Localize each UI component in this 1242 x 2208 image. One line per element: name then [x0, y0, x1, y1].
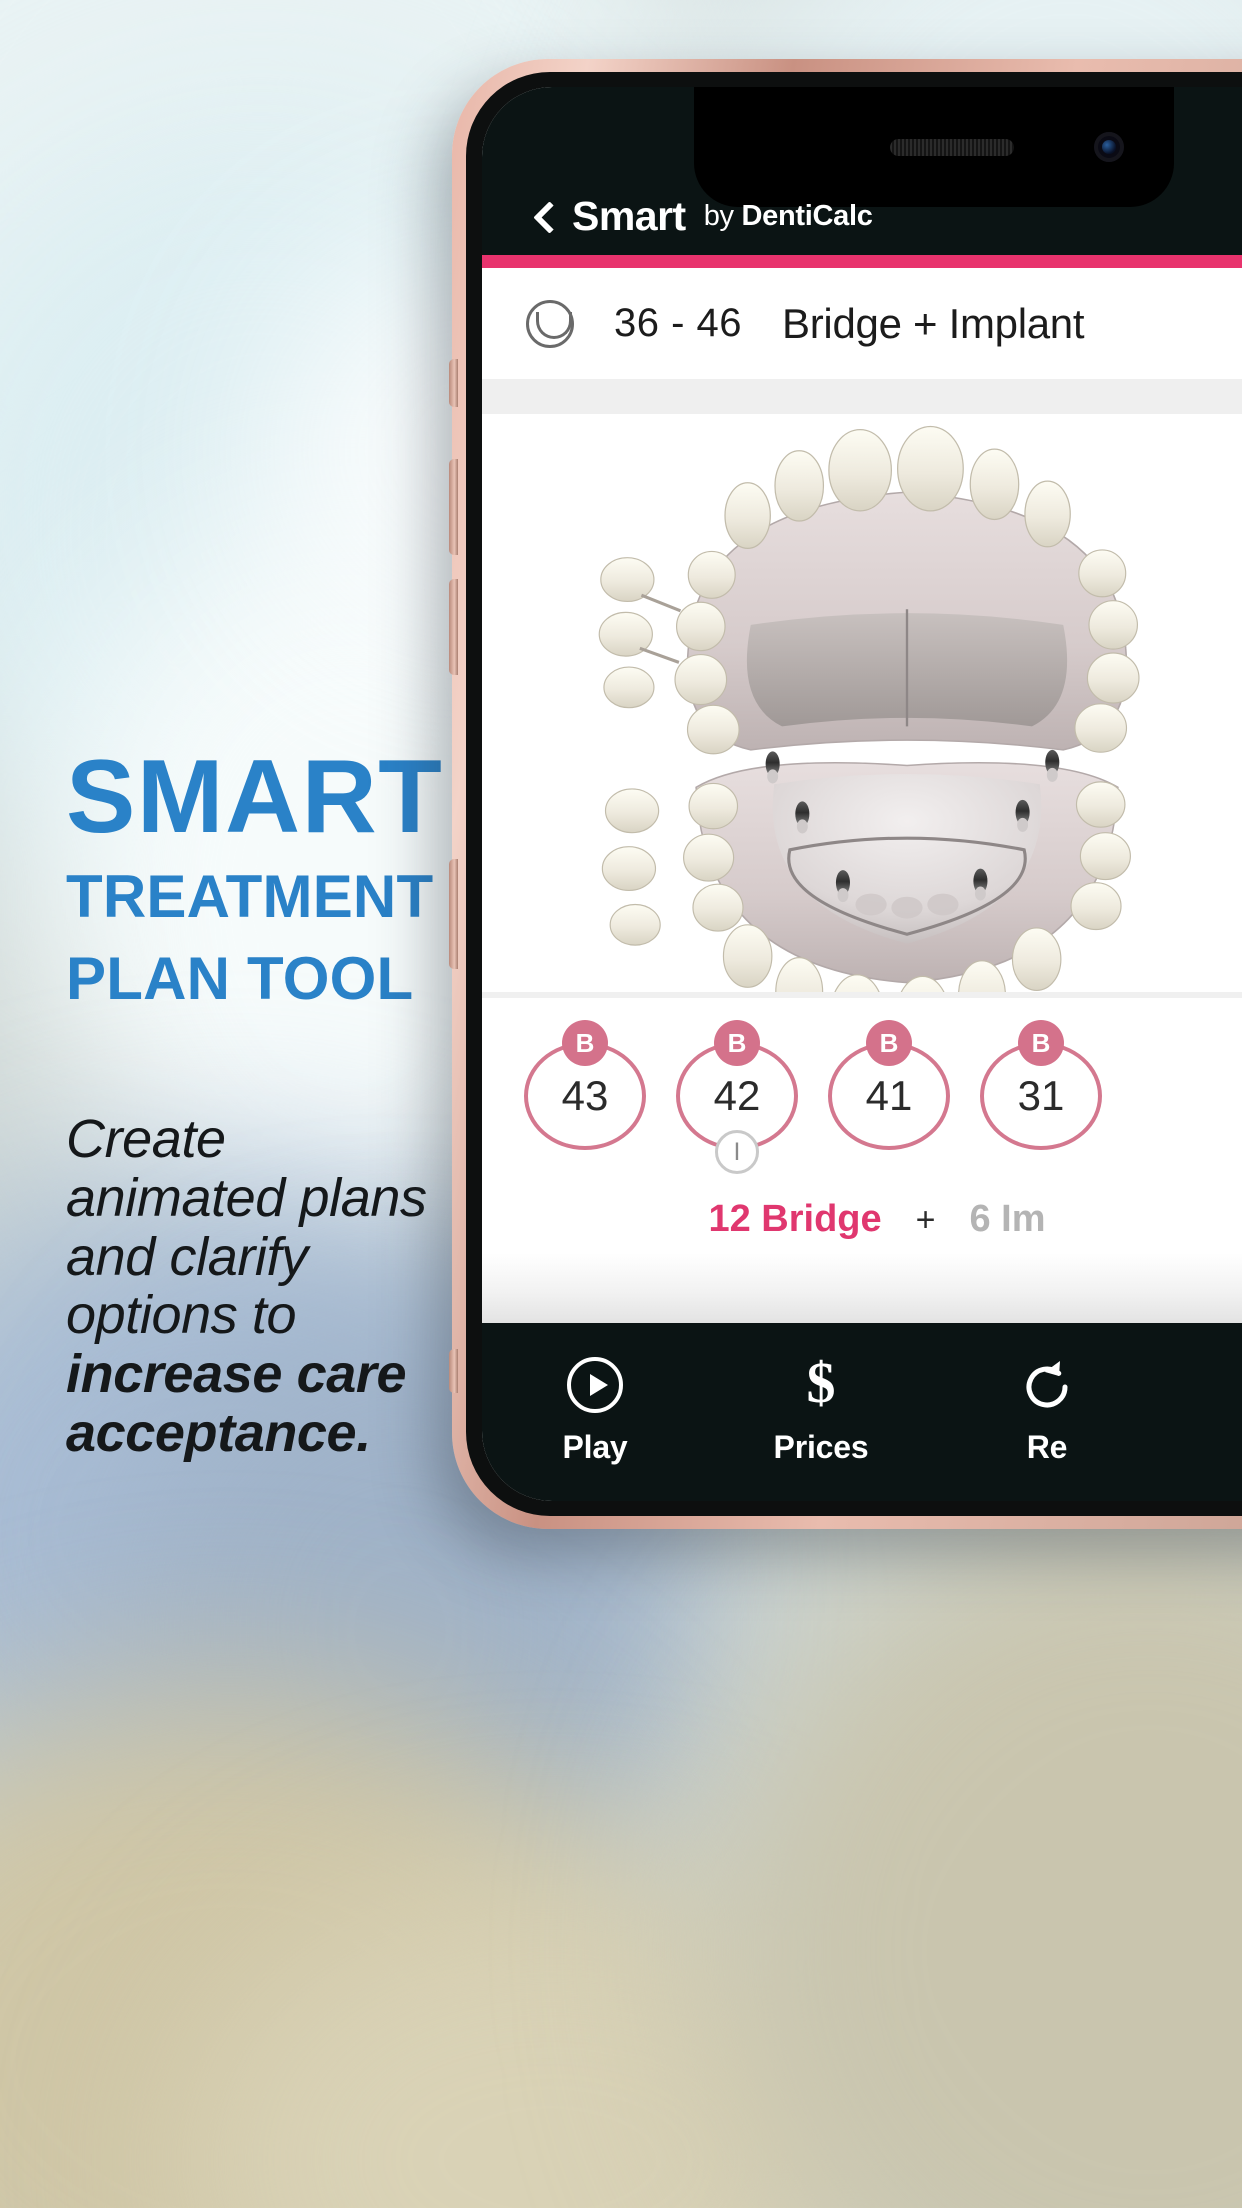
bottom-navigation-bar: Play $ Prices Re	[482, 1323, 1242, 1501]
app-status-bar: Smart by DentiCalc	[482, 87, 1242, 255]
app-brand-sub: by DentiCalc	[704, 200, 873, 233]
phone-silent-switch[interactable]	[449, 359, 458, 407]
headline-treatment: TREATMENT	[66, 863, 430, 931]
accent-rule	[482, 255, 1242, 268]
exploded-crowns-lower	[602, 789, 660, 945]
tooth-range-label: 36 - 46	[614, 301, 742, 346]
nav-item-prices[interactable]: $ Prices	[708, 1357, 934, 1466]
implant-badge: I	[715, 1130, 759, 1174]
phone-screen: Smart by DentiCalc 36 - 46 Bridge + Impl…	[482, 87, 1242, 1501]
app-title-row: Smart by DentiCalc	[482, 185, 1242, 247]
phone-volume-up-button[interactable]	[449, 459, 458, 555]
tooth-chips-list: B 43 B 42 I B 41 B 31	[482, 1042, 1242, 1150]
reset-arrow-icon	[1019, 1357, 1075, 1413]
bridge-badge: B	[562, 1020, 608, 1066]
app-brand-main: Smart	[572, 193, 686, 240]
earpiece-speaker-icon	[890, 139, 1014, 156]
headline-plan-tool: PLAN TOOL	[66, 945, 430, 1013]
plan-name-label: Bridge + Implant	[782, 300, 1084, 348]
phone-power-button[interactable]	[449, 859, 458, 969]
app-brand-name: DentiCalc	[742, 200, 873, 232]
implant-count-label: 6 Im	[969, 1198, 1045, 1241]
body-copy-period: .	[356, 1403, 371, 1463]
nav-label-play: Play	[562, 1429, 627, 1466]
headline-block: SMART TREATMENT PLAN TOOL	[66, 745, 430, 1014]
bridge-badge: B	[866, 1020, 912, 1066]
app-brand-by: by	[704, 200, 742, 232]
tooth-chip[interactable]: B 42 I	[676, 1042, 798, 1150]
play-circle-icon	[567, 1357, 623, 1413]
exploded-crowns-upper	[599, 558, 680, 708]
nav-label-prices: Prices	[774, 1429, 869, 1466]
plan-header-shadow	[482, 380, 1242, 414]
nav-label-reset: Re	[1027, 1429, 1068, 1466]
bridge-count-label: 12 Bridge	[708, 1198, 881, 1241]
tooth-chip[interactable]: B 41	[828, 1042, 950, 1150]
nav-item-reset[interactable]: Re	[934, 1357, 1160, 1466]
phone-bezel: Smart by DentiCalc 36 - 46 Bridge + Impl…	[466, 72, 1242, 1516]
front-camera-icon	[1094, 132, 1124, 162]
summary-separator: +	[916, 1201, 936, 1240]
plan-header-bar[interactable]: 36 - 46 Bridge + Implant	[482, 268, 1242, 380]
tooth-chip[interactable]: B 31	[980, 1042, 1102, 1150]
phone-volume-down-button[interactable]	[449, 579, 458, 675]
chevron-left-icon[interactable]	[530, 204, 554, 228]
marketing-copy-panel: SMART TREATMENT PLAN TOOL Create animate…	[0, 0, 470, 2208]
tooth-chip[interactable]: B 43	[524, 1042, 646, 1150]
nav-item-play[interactable]: Play	[482, 1357, 708, 1466]
dental-arch-illustration	[482, 414, 1242, 992]
headline-smart: SMART	[66, 745, 430, 849]
lower-arch-group	[602, 750, 1130, 992]
treatment-summary: 12 Bridge + 6 Im	[482, 1150, 1242, 1241]
dental-model-viewer[interactable]	[482, 414, 1242, 992]
bridge-badge: B	[1018, 1020, 1064, 1066]
phone-lower-button[interactable]	[449, 1349, 458, 1393]
bg-blob-right-lower	[700, 1500, 1242, 2208]
tooth-chips-area: B 43 B 42 I B 41 B 31	[482, 998, 1242, 1253]
dollar-sign-icon: $	[793, 1357, 849, 1413]
bottom-fade-divider	[482, 1253, 1242, 1323]
phone-mockup: Smart by DentiCalc 36 - 46 Bridge + Impl…	[452, 59, 1242, 1529]
bridge-badge: B	[714, 1020, 760, 1066]
marketing-body-copy: Create animated plans and clarify option…	[66, 1110, 430, 1463]
mouth-outline-icon	[526, 300, 574, 348]
body-copy-part1: Create animated plans and clarify option…	[66, 1109, 427, 1346]
upper-arch-group	[599, 426, 1139, 753]
